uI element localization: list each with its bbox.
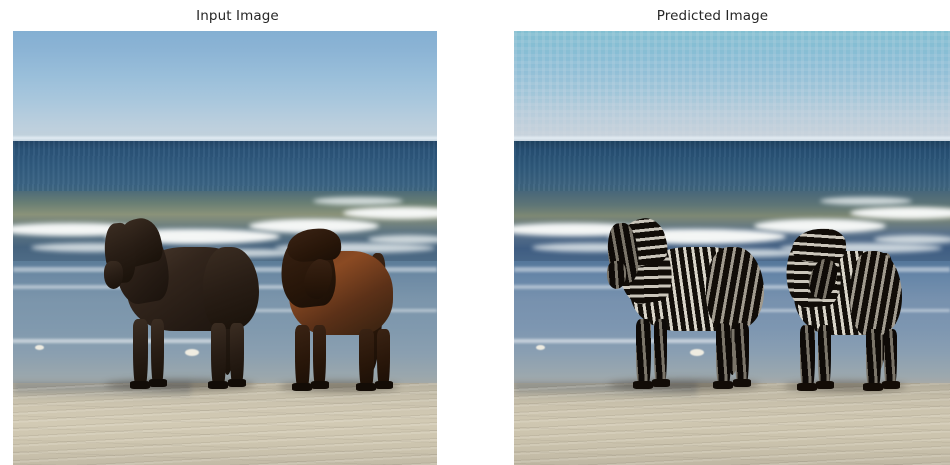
horse-hoof: [292, 383, 312, 391]
sand-layer-predicted: [514, 383, 950, 465]
zebra-hoof: [863, 383, 883, 391]
zebra-hoof: [713, 381, 733, 389]
zebra-leg: [884, 329, 897, 385]
sky-layer-input: [13, 31, 437, 141]
horse-hoof: [228, 379, 246, 387]
axes-predicted-image: [514, 31, 950, 465]
zebra-leg: [636, 319, 651, 385]
sky-layer-predicted: [514, 31, 950, 141]
horse-hoof: [311, 381, 329, 389]
panel-title-input: Input Image: [0, 8, 475, 24]
horse-muzzle: [104, 261, 123, 289]
horse-leg: [133, 319, 148, 385]
zebra-muzzle: [607, 261, 626, 289]
horse-leg: [295, 325, 310, 387]
horse-mane: [286, 227, 342, 263]
horse-hoof: [375, 381, 393, 389]
foam-crest: [313, 197, 403, 205]
zebra-leg: [654, 319, 667, 383]
zebra-hoof: [882, 381, 900, 389]
horse-hoof: [208, 381, 228, 389]
axes-input-image: [13, 31, 437, 465]
horse-hoof: [149, 379, 167, 387]
horse-hoof: [130, 381, 150, 389]
sand-tire-tracks-secondary: [13, 383, 437, 465]
horse-hoof: [356, 383, 376, 391]
zebra-hoof: [816, 381, 834, 389]
foam-crest: [850, 207, 950, 219]
right-animal-input: [271, 229, 421, 394]
zebra-leg: [800, 325, 815, 387]
left-animal-input: [99, 219, 284, 394]
right-animal-predicted: [776, 229, 928, 394]
zebra-hindquarter: [706, 247, 764, 329]
left-animal-predicted: [602, 219, 792, 394]
sand-tire-tracks-secondary: [514, 383, 950, 465]
horse-leg: [230, 323, 244, 383]
zebra-mane: [791, 227, 847, 263]
zebra-hoof: [797, 383, 817, 391]
sand-layer-input: [13, 383, 437, 465]
zebra-hoof: [733, 379, 751, 387]
zebra-hindquarter: [850, 251, 902, 335]
horse-hindquarter: [203, 247, 259, 329]
scene-input: [13, 31, 437, 465]
horse-leg: [359, 329, 374, 387]
horse-leg: [377, 329, 390, 385]
zebra-leg: [716, 323, 731, 385]
zebra-hoof: [652, 379, 670, 387]
figure-canvas: Input Image: [0, 0, 950, 465]
shell-speck: [35, 345, 44, 350]
panel-input-image: Input Image: [0, 0, 475, 465]
zebra-leg: [818, 325, 831, 385]
gan-artifact-fade: [514, 31, 950, 141]
horse-leg: [211, 323, 226, 385]
panel-title-predicted: Predicted Image: [475, 8, 950, 24]
panel-predicted-image: Predicted Image: [475, 0, 950, 465]
zebra-hoof: [633, 381, 653, 389]
foam-crest: [343, 207, 437, 219]
shell-speck: [536, 345, 545, 350]
foam-crest: [820, 197, 912, 205]
horse-leg: [313, 325, 326, 385]
horse-leg: [151, 319, 164, 383]
zebra-leg: [735, 323, 749, 383]
scene-predicted: [514, 31, 950, 465]
zebra-leg: [866, 329, 881, 387]
